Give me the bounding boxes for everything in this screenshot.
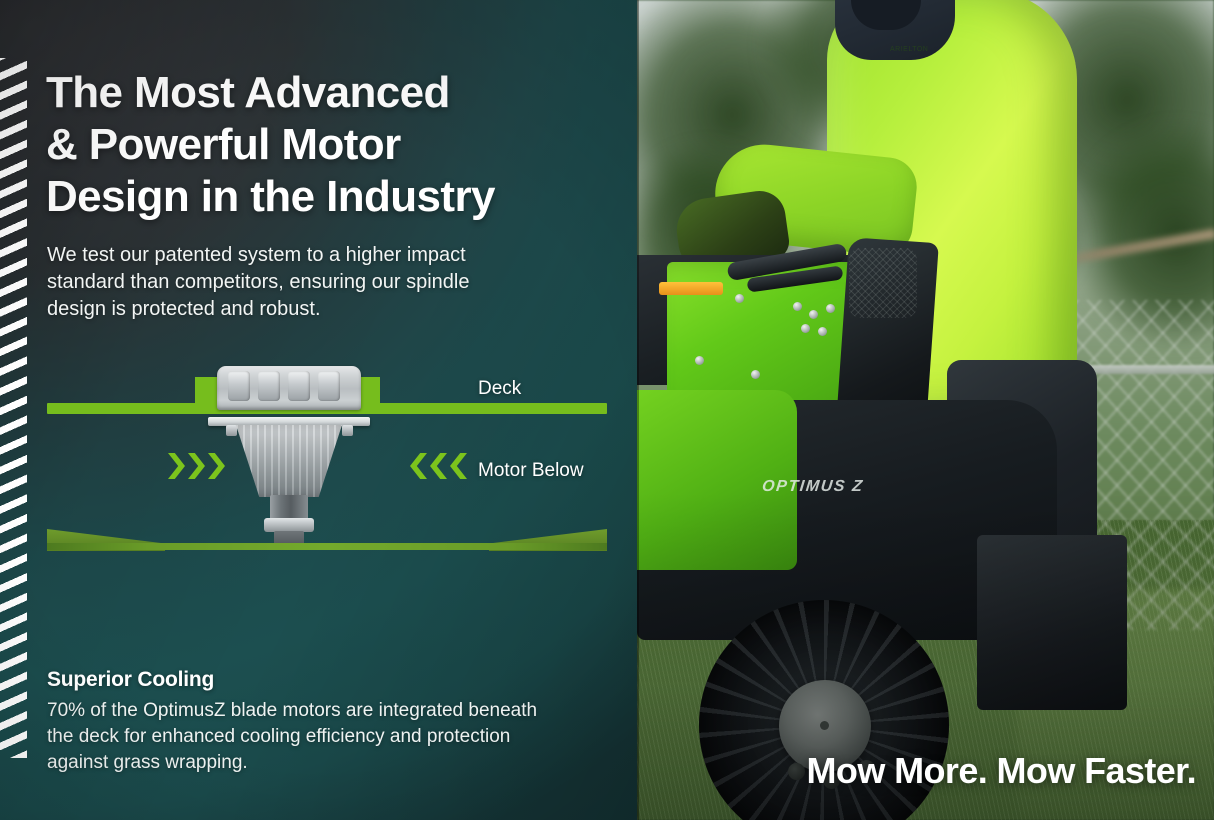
panel-rivet [695,356,704,365]
cooling-body-line-1: 70% of the OptimusZ blade motors are int… [47,698,607,724]
motor-fin [288,371,310,401]
chevron-left-icon [430,453,447,479]
subcopy-line-1: We test our patented system to a higher … [47,242,567,269]
motor-deck-diagram: Deck Motor Below [0,355,637,595]
chevron-left-icon-group [410,453,467,479]
hero-photo: ARIELTON OPTIMUS Z Mow More. Mo [637,0,1214,820]
flange-bolt [342,425,353,436]
panel-rivet [826,304,835,313]
mower-blade-graphic [47,529,607,557]
chevron-right-icon-group [168,453,225,479]
subcopy-line-3: design is protected and robust. [47,296,567,323]
cooling-body-line-3: against grass wrapping. [47,750,607,776]
diagram-label-deck: Deck [478,378,521,400]
motor-fin [258,371,280,401]
motor-fin [228,371,250,401]
superior-cooling-title: Superior Cooling [47,668,607,692]
cooling-body-line-2: the deck for enhanced cooling efficiency… [47,724,607,750]
amber-reflector [659,282,723,295]
panel-rivet [793,302,802,311]
headline-line-3: Design in the Industry [46,171,606,223]
motor-fin [318,371,340,401]
seat-mesh [849,248,917,318]
chevron-right-icon [168,453,185,479]
motor-cooling-ribs [236,425,342,497]
panel-rivet [735,294,744,303]
chevron-left-icon [450,453,467,479]
page-title: The Most Advanced & Powerful Motor Desig… [46,67,606,223]
subcopy-line-2: standard than competitors, ensuring our … [47,269,567,296]
diagram-label-motor: Motor Below [478,460,584,482]
mower-brand-decal: OPTIMUS Z [761,478,864,496]
panel-rivet [801,324,810,333]
chevron-right-icon [188,453,205,479]
panel-divider [637,0,639,820]
superior-cooling-block: Superior Cooling 70% of the OptimusZ bla… [47,668,607,776]
headline-line-2: & Powerful Motor [46,119,606,171]
left-info-panel: The Most Advanced & Powerful Motor Desig… [0,0,637,820]
superior-cooling-body: 70% of the OptimusZ blade motors are int… [47,698,607,776]
panel-rivet [818,327,827,336]
chevron-right-icon [208,453,225,479]
marketing-banner: The Most Advanced & Powerful Motor Desig… [0,0,1214,820]
wheel-lug [788,763,805,780]
blade-core [47,543,607,550]
motor-spindle-graphic [208,355,370,550]
operator-chest-logo: ARIELTON [890,46,920,72]
wheel-hub-center [820,721,829,730]
panel-rivet [809,310,818,319]
hero-tagline: Mow More. Mow Faster. [807,750,1196,792]
headline-subcopy: We test our patented system to a higher … [47,242,567,323]
chevron-left-icon [410,453,427,479]
mower-front-bumper [977,535,1127,710]
flange-bolt [226,425,237,436]
panel-rivet [751,370,760,379]
headline-line-1: The Most Advanced [46,67,606,119]
